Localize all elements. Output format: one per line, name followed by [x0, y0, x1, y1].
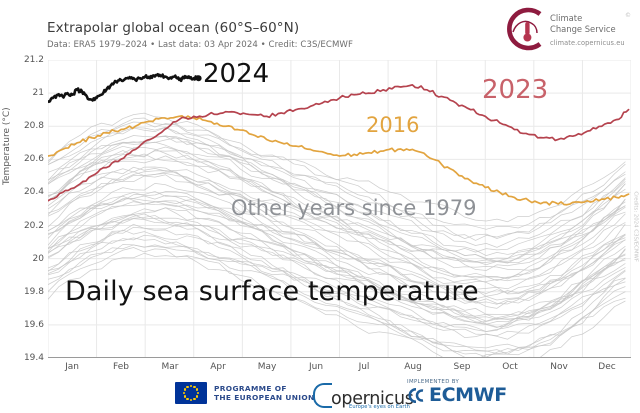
- series-2024-line: [48, 74, 202, 102]
- y-tick: 19.6: [10, 320, 44, 330]
- x-tick: Jun: [309, 362, 323, 372]
- c3s-logo[interactable]: Climate Change Service climate.copernicu…: [500, 6, 632, 54]
- x-tick: Nov: [550, 362, 568, 372]
- series-line-2024: [48, 74, 199, 102]
- footer-logos: PROGRAMME OF THE EUROPEAN UNION opernicu…: [0, 377, 640, 411]
- other-year-line: [48, 215, 625, 325]
- copernicus-arc-icon: [313, 383, 332, 408]
- y-tick: 19.8: [10, 287, 44, 297]
- registered-mark: ©: [625, 12, 631, 19]
- eu-star-icon: [196, 388, 199, 391]
- c3s-logo-line2: Change Service: [550, 24, 625, 35]
- y-tick: 20.6: [10, 154, 44, 164]
- eu-star-icon: [190, 399, 193, 402]
- y-tick: 21: [10, 88, 44, 98]
- copernicus-tagline: Europe's eyes on Earth: [349, 404, 410, 410]
- eu-star-icon: [186, 398, 189, 401]
- ecmwf-wordmark-row: ECMWF: [407, 386, 507, 404]
- x-tick: May: [258, 362, 277, 372]
- x-tick: Jan: [65, 362, 79, 372]
- eu-logo-text: PROGRAMME OF THE EUROPEAN UNION: [214, 384, 315, 403]
- eu-star-icon: [183, 392, 186, 395]
- x-tick: Jul: [359, 362, 370, 372]
- x-tick: Apr: [210, 362, 226, 372]
- series-2016-line: [48, 116, 629, 205]
- y-tick: 20.4: [10, 187, 44, 197]
- copernicus-logo[interactable]: opernicus Europe's eyes on Earth: [313, 383, 414, 408]
- x-tick: Mar: [162, 362, 179, 372]
- series-2024-endpoint-marker: [196, 75, 202, 81]
- eu-flag-icon: [175, 382, 207, 404]
- x-tick: Sep: [454, 362, 471, 372]
- c3s-logo-text: Climate Change Service climate.copernicu…: [550, 13, 625, 47]
- other-year-line: [48, 136, 625, 248]
- annotation-2024: 2024: [203, 59, 269, 89]
- x-tick: Dec: [598, 362, 615, 372]
- eu-star-icon: [196, 395, 199, 398]
- eu-logo[interactable]: PROGRAMME OF THE EUROPEAN UNION: [175, 382, 315, 404]
- c3s-logo-line1: Climate: [550, 13, 625, 24]
- annotation-2023: 2023: [482, 75, 548, 105]
- ecmwf-swirl-icon: [407, 387, 429, 404]
- side-credit-watermark: Credits: 2024 C3S/ECMWF: [633, 191, 639, 262]
- x-tick: Aug: [404, 362, 422, 372]
- series-line-2016: [48, 116, 629, 205]
- eu-star-icon: [193, 398, 196, 401]
- x-tick: Oct: [502, 362, 518, 372]
- eu-logo-line2: THE EUROPEAN UNION: [214, 393, 315, 402]
- eu-star-icon: [184, 395, 187, 398]
- x-tick: Feb: [113, 362, 129, 372]
- eu-star-icon: [184, 388, 187, 391]
- y-tick: 21.2: [10, 55, 44, 65]
- annotation-other-years: Other years since 1979: [231, 196, 476, 220]
- page-title: Extrapolar global ocean (60°S–60°N): [47, 20, 299, 36]
- y-tick: 20.2: [10, 221, 44, 231]
- headline-text: Daily sea surface temperature: [65, 276, 479, 307]
- y-tick: 19.4: [10, 353, 44, 363]
- eu-logo-line1: PROGRAMME OF: [214, 384, 315, 393]
- eu-star-icon: [197, 392, 200, 395]
- c3s-logo-url: climate.copernicus.eu: [550, 39, 625, 47]
- c3s-thermometer-icon: [500, 6, 546, 52]
- eu-star-icon: [190, 385, 193, 388]
- ecmwf-logo[interactable]: IMPLEMENTED BY ECMWF: [407, 379, 507, 404]
- sst-chart-figure: Extrapolar global ocean (60°S–60°N) Data…: [0, 0, 640, 413]
- chart-subtitle: Data: ERA5 1979–2024 • Last data: 03 Apr…: [47, 40, 353, 50]
- annotation-2016: 2016: [366, 113, 419, 137]
- y-tick: 20: [10, 254, 44, 264]
- y-tick: 20.8: [10, 121, 44, 131]
- y-axis-ticks: 21.2 21 20.8 20.6 20.4 20.2 20 19.8 19.6…: [0, 0, 44, 413]
- ecmwf-name-text: ECMWF: [429, 386, 507, 404]
- eu-star-icon: [186, 386, 189, 389]
